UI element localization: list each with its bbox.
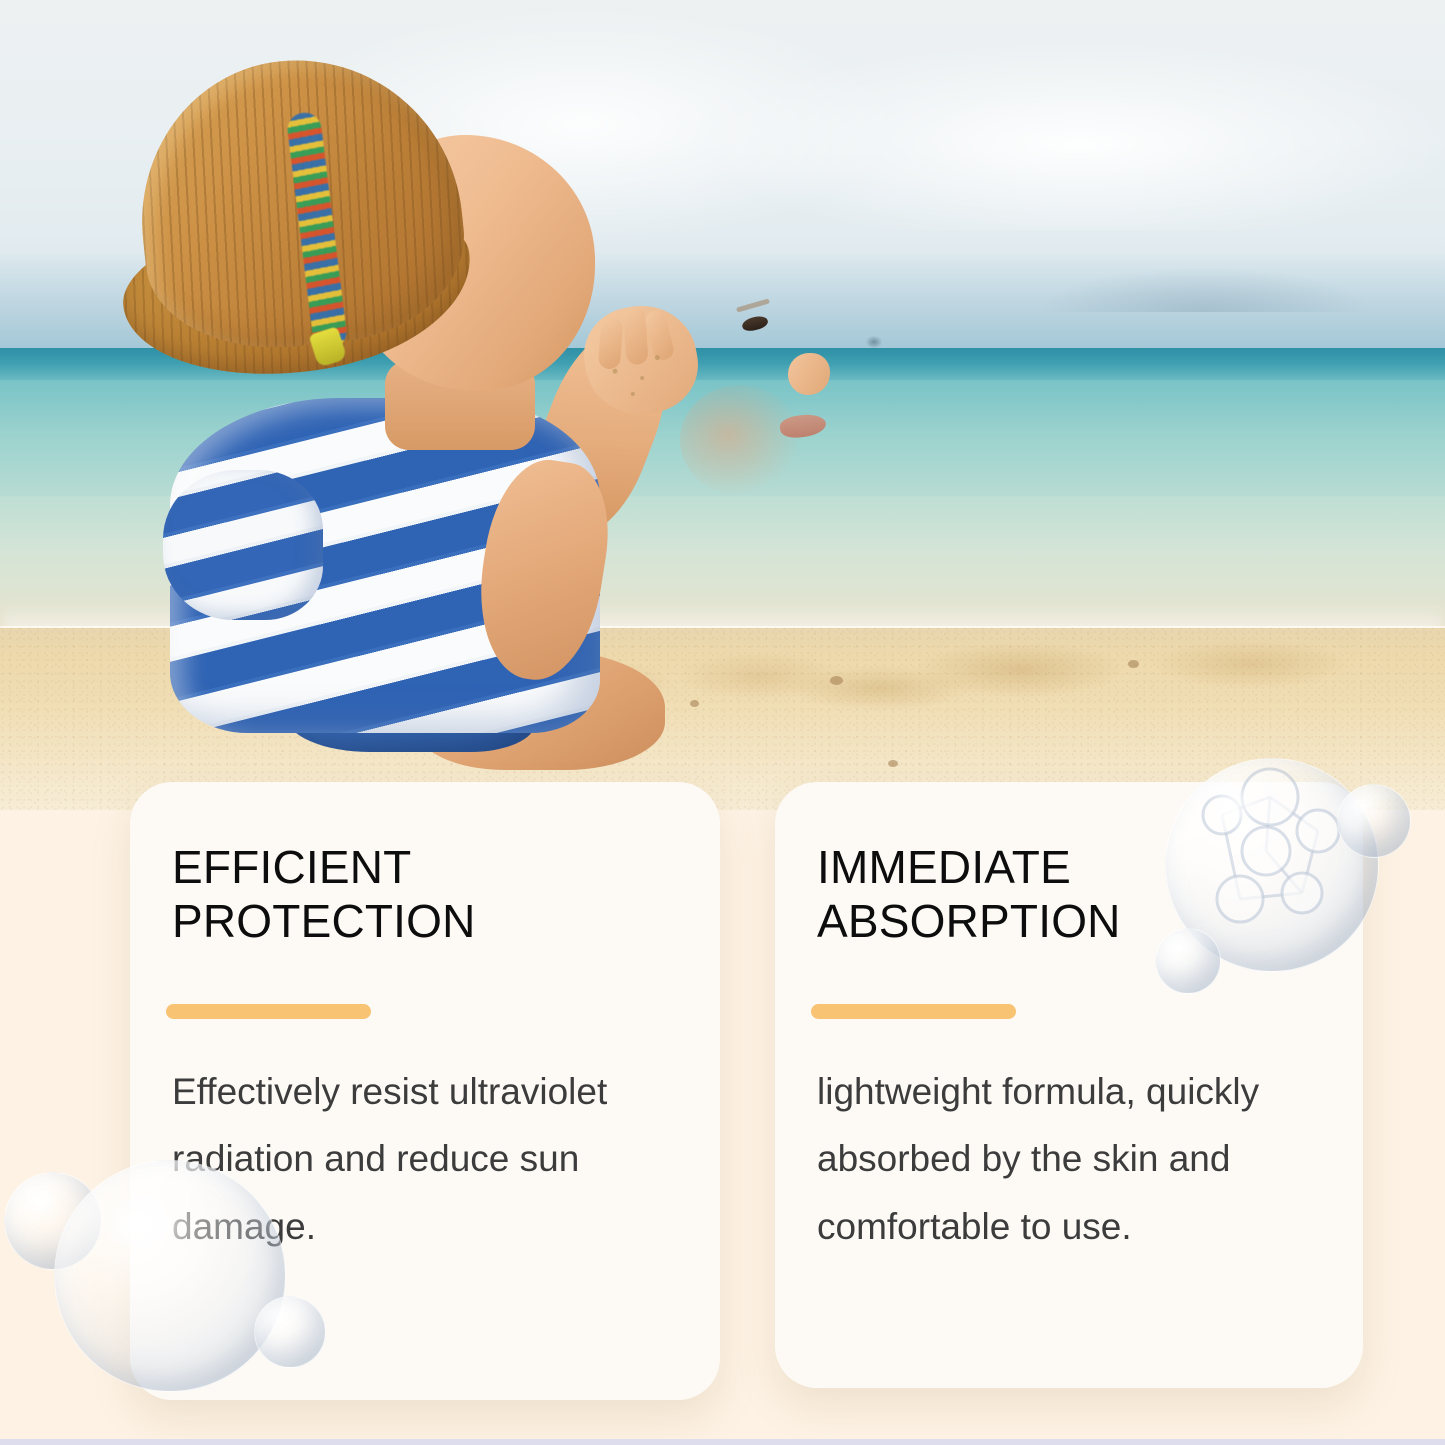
accent-bar: [166, 1004, 371, 1019]
card-title: IMMEDIATE ABSORPTION: [817, 840, 1329, 949]
baby-figure: [115, 30, 755, 730]
card-title: EFFICIENT PROTECTION: [172, 840, 686, 949]
bottom-edge-strip: [0, 1439, 1445, 1445]
finger: [598, 316, 624, 369]
pebble: [830, 676, 843, 685]
distant-boat: [866, 336, 882, 348]
feature-card-efficient-protection[interactable]: EFFICIENT PROTECTION Effectively resist …: [130, 782, 720, 1400]
baby-sleeve: [163, 470, 323, 620]
sand-speck: [640, 376, 645, 381]
cloud: [700, 40, 1445, 230]
baby-on-beach-photo: [0, 0, 1445, 810]
card-body-text: lightweight formula, quickly absorbed by…: [817, 1058, 1329, 1260]
bubble-small: [4, 1172, 102, 1270]
finger: [623, 306, 649, 365]
feature-card-immediate-absorption[interactable]: IMMEDIATE ABSORPTION lightweight formula…: [775, 782, 1363, 1388]
sand-speck: [612, 368, 618, 374]
accent-bar: [811, 1004, 1016, 1019]
baby-cheek: [680, 385, 800, 495]
infographic-stage: EFFICIENT PROTECTION Effectively resist …: [0, 0, 1445, 1445]
card-body-text: Effectively resist ultraviolet radiation…: [172, 1058, 686, 1260]
sand-speck: [630, 392, 635, 397]
pebble: [1128, 660, 1139, 668]
bubble-highlight: [25, 1189, 59, 1213]
distant-island: [1040, 268, 1370, 312]
finger: [643, 309, 675, 363]
pebble: [888, 760, 898, 767]
